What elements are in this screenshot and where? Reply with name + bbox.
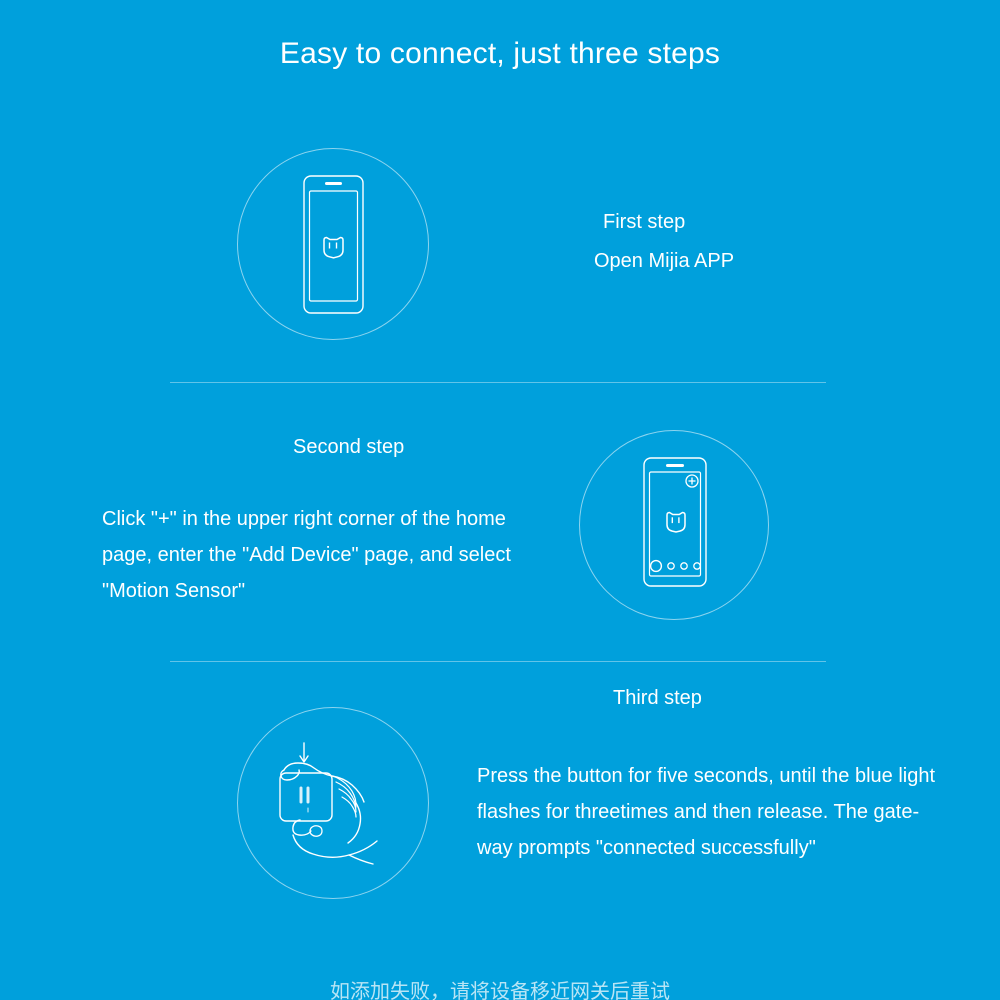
step-3-body: Press the button for five seconds, until… <box>477 758 947 866</box>
hand-pressing-sensor-icon <box>237 707 429 899</box>
step-3-heading: Third step <box>613 684 702 712</box>
phone-with-mijia-logo-icon <box>237 148 429 340</box>
connection-guide-page: Easy to connect, just three steps First … <box>0 0 1000 1000</box>
step-2-heading: Second step <box>293 433 404 461</box>
step-2-body: Click "+" in the upper right corner of t… <box>102 501 542 609</box>
step-1-heading: First step <box>603 208 685 236</box>
step-1-body: Open Mijia APP <box>594 243 924 279</box>
section-divider-2 <box>170 661 826 662</box>
page-title: Easy to connect, just three steps <box>0 34 1000 74</box>
phone-add-device-icon <box>579 430 769 620</box>
footer-note: 如添加失败，请将设备移近网关后重试 <box>0 978 1000 1000</box>
section-divider-1 <box>170 382 826 383</box>
